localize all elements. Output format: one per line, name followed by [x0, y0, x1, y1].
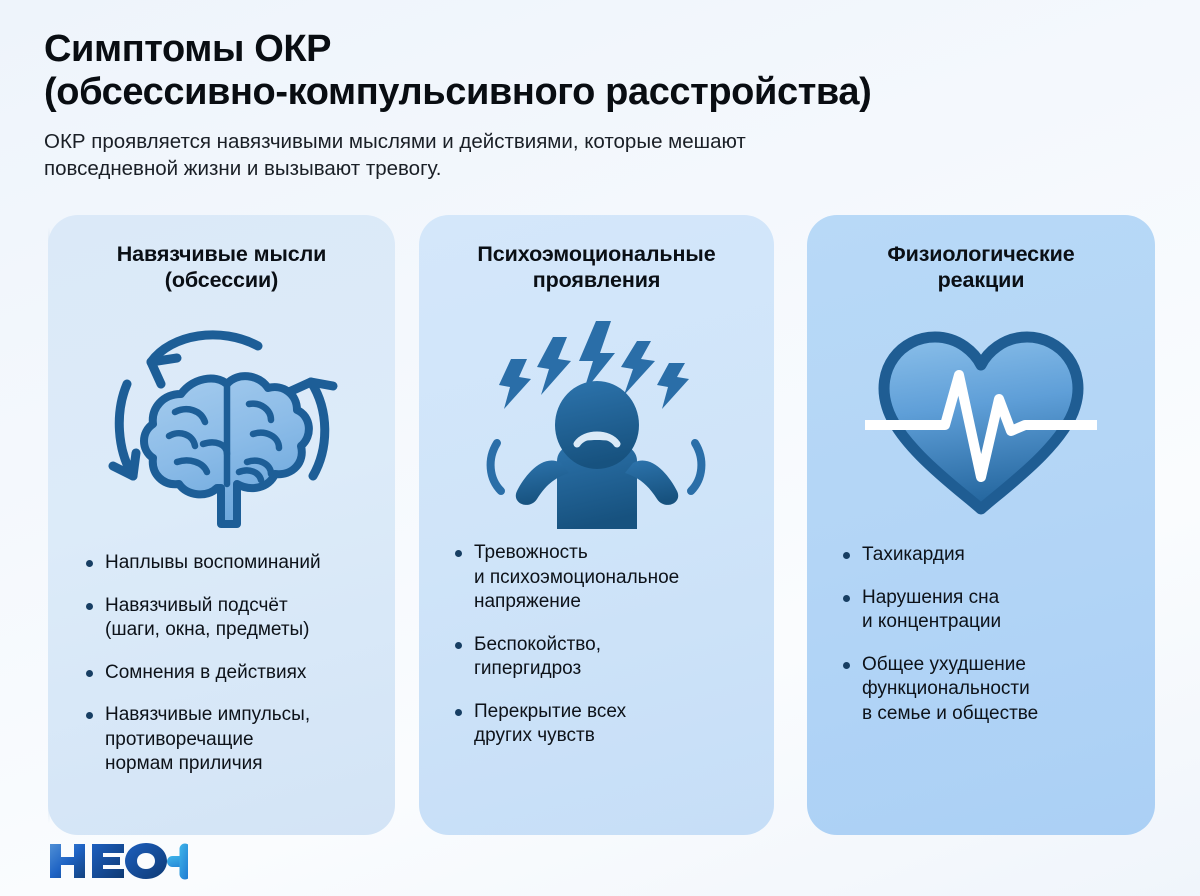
card-psychoemotional: Психоэмоциональные проявления — [419, 215, 774, 835]
neo-plus-logo — [48, 840, 188, 882]
infographic-poster: Симптомы ОКР (обсессивно-компульсивного … — [0, 0, 1200, 896]
list-item: Беспокойство, гипергидроз — [453, 633, 752, 682]
list-item: Тахикардия — [841, 543, 1133, 568]
page-title: Симптомы ОКР (обсессивно-компульсивного … — [44, 28, 1156, 114]
card-title-physiological: Физиологические реакции — [829, 241, 1133, 293]
list-item: Тревожность и психоэмоциональное напряже… — [453, 541, 752, 615]
header: Симптомы ОКР (обсессивно-компульсивного … — [44, 28, 1156, 182]
list-item: Сомнения в действиях — [84, 661, 373, 686]
heart-pulse-icon — [829, 297, 1133, 547]
list-item: Навязчивые импульсы, противоречащие норм… — [84, 703, 373, 777]
page-subtitle: ОКР проявляется навязчивыми мыслями и де… — [44, 128, 1054, 182]
card-obsessive-thoughts: Навязчивые мысли (обсессии) — [48, 215, 395, 835]
list-item: Наплывы воспоминаний — [84, 551, 373, 576]
stressed-person-icon — [441, 297, 752, 547]
brain-cycle-icon — [70, 297, 373, 547]
bullet-list-physiological: Тахикардия Нарушения сна и концентрации … — [829, 543, 1133, 726]
card-physiological: Физиологические реакции — [807, 215, 1155, 835]
list-item: Перекрытие всех других чувств — [453, 700, 752, 749]
list-item: Нарушения сна и концентрации — [841, 586, 1133, 635]
bullet-list-psychoemotional: Тревожность и психоэмоциональное напряже… — [441, 541, 752, 749]
cards-row: Навязчивые мысли (обсессии) — [48, 215, 1155, 835]
card-title-psychoemotional: Психоэмоциональные проявления — [441, 241, 752, 293]
bullet-list-obsessive-thoughts: Наплывы воспоминаний Навязчивый подсчёт … — [70, 551, 373, 777]
list-item: Навязчивый подсчёт (шаги, окна, предметы… — [84, 594, 373, 643]
list-item: Общее ухудшение функциональности в семье… — [841, 653, 1133, 727]
card-title-obsessive-thoughts: Навязчивые мысли (обсессии) — [70, 241, 373, 293]
